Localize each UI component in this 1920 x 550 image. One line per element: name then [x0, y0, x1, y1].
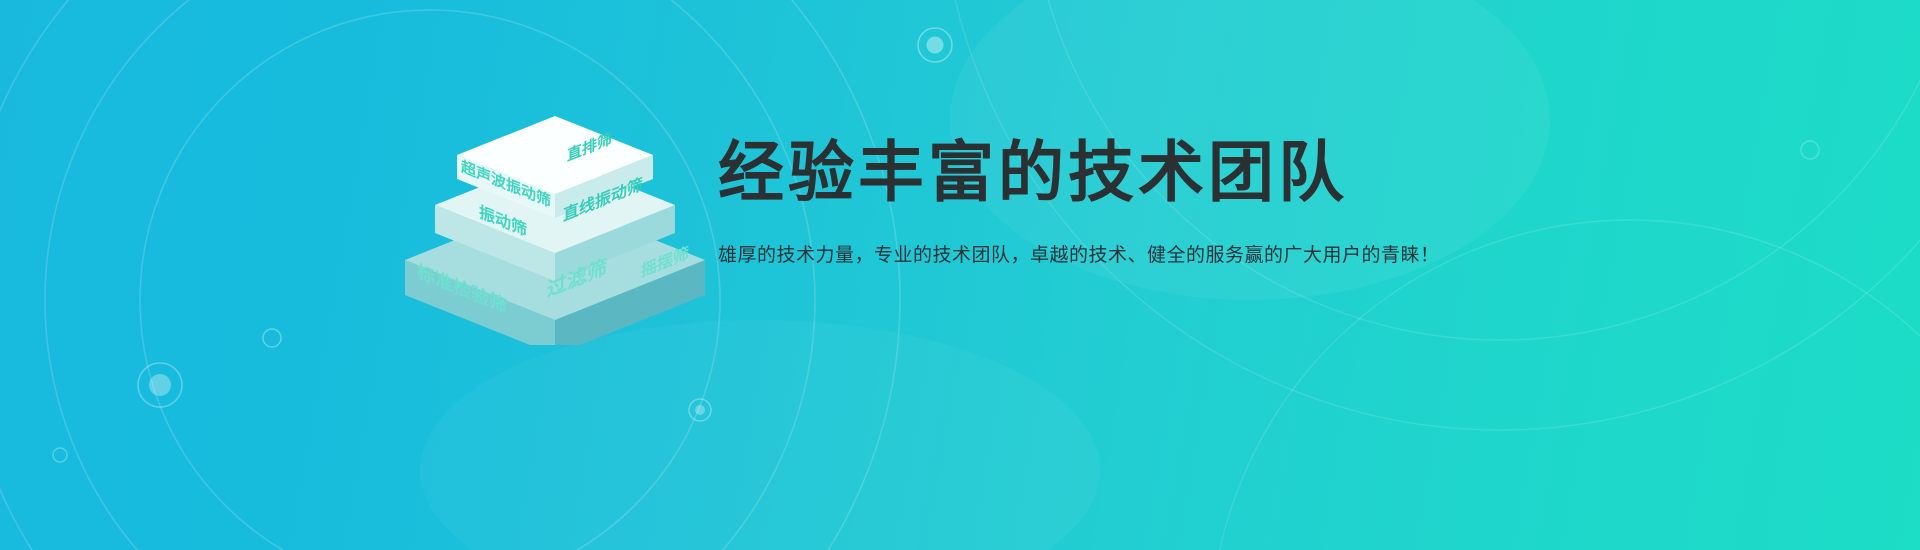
hero-banner: 超声波振动筛 直排筛 振动筛 直线振动筛 标准检验筛 过滤筛 摇摆筛 经验丰富的…	[0, 0, 1920, 550]
banner-copy: 经验丰富的技术团队 雄厚的技术力量，专业的技术团队，卓越的技术、健全的服务赢的广…	[718, 138, 1818, 272]
arc-ring-right-icon	[940, 0, 1920, 550]
background-decoration	[0, 0, 1920, 550]
banner-subline: 雄厚的技术力量，专业的技术团队，卓越的技术、健全的服务赢的广大用户的青睐！	[718, 207, 1818, 271]
isometric-sieve-stack-illustration: 超声波振动筛 直排筛 振动筛 直线振动筛 标准检验筛 过滤筛 摇摆筛	[395, 55, 715, 345]
banner-headline: 经验丰富的技术团队	[718, 138, 1818, 207]
